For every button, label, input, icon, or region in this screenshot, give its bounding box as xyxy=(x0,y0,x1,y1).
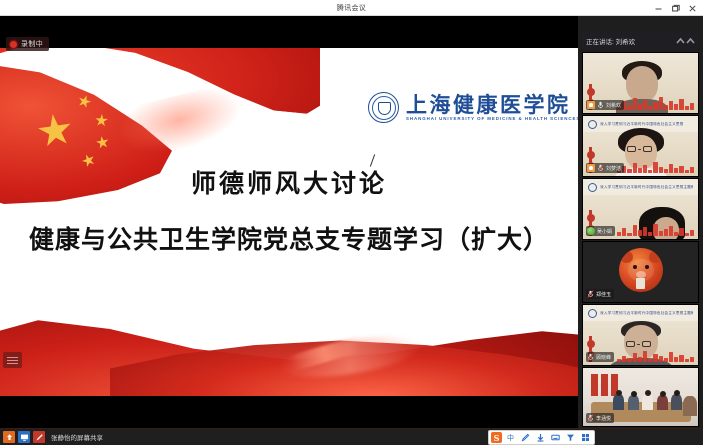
window-controls xyxy=(650,0,701,16)
participant-5-audio-wave xyxy=(617,348,694,362)
participant-2-badge: 刘梦洁 xyxy=(586,163,624,173)
sogou-logo-icon[interactable]: S xyxy=(491,432,502,443)
window-titlebar: 腾讯会议 xyxy=(0,0,703,16)
recording-indicator: 录制中 xyxy=(6,37,49,51)
active-speaker-label: 正在讲话: 刘希欢 xyxy=(586,36,635,46)
taskbar-share-entry[interactable]: 张静怡的屏幕共享 xyxy=(0,431,103,443)
participant-3-strip-text: 深入学习贯彻习近平新时代中国特色社会主义思想主题教育 xyxy=(600,185,693,190)
participant-1-name: 刘希欢 xyxy=(606,102,621,109)
university-name-en: SHANGHAI UNIVERSITY OF MEDICINE & HEALTH… xyxy=(406,116,578,121)
participant-3-audio-wave xyxy=(617,222,694,236)
participant-tile-5[interactable]: 深入学习贯彻习近平新时代中国特色社会主义思想主题教育 xyxy=(582,304,699,366)
taskbar-share-label: 张静怡的屏幕共享 xyxy=(51,432,103,442)
speaking-chip-icon xyxy=(587,227,595,235)
participant-6-name: 李涵悦 xyxy=(596,415,611,422)
slideshow-control-overlay[interactable] xyxy=(3,352,22,368)
active-speaker-banner: 正在讲话: 刘希欢 xyxy=(582,32,699,49)
participant-tile-2[interactable]: 深入学习贯彻习近平新时代中国特色社会主义思想 xyxy=(582,115,699,177)
slide-title-line-2: 健康与公共卫生学院党总支专题学习（扩大） xyxy=(0,220,578,256)
mic-muted-icon xyxy=(587,414,594,422)
participant-1-badge: 刘希欢 xyxy=(586,100,624,110)
participant-tile-4[interactable]: 郑佳玉 xyxy=(582,241,699,303)
ime-handwriting-icon[interactable] xyxy=(519,431,532,444)
annotate-pen-icon[interactable] xyxy=(33,431,45,443)
share-screen-icon[interactable] xyxy=(3,431,15,443)
red-silk-ribbon-graphic xyxy=(0,286,578,396)
strip-seal-icon xyxy=(588,183,597,192)
participant-2-name: 刘梦洁 xyxy=(606,165,621,172)
participant-5-shared-strip: 深入学习贯彻习近平新时代中国特色社会主义思想主题教育 xyxy=(583,305,698,321)
participant-2-audio-wave xyxy=(617,159,694,173)
rail-scroll-up-icon[interactable] xyxy=(676,37,695,45)
mic-on-icon xyxy=(597,101,604,109)
participant-3-name: 吴小娟 xyxy=(597,228,612,235)
monitor-icon[interactable] xyxy=(18,431,30,443)
participant-tile-1[interactable]: 刘希欢 xyxy=(582,52,699,114)
mic-muted-icon xyxy=(587,290,594,298)
mic-muted-icon xyxy=(597,164,604,172)
ime-keyboard-icon[interactable] xyxy=(549,431,562,444)
presentation-slide: 上海健康医学院 SHANGHAI UNIVERSITY OF MEDICINE … xyxy=(0,48,578,396)
mic-muted-icon xyxy=(587,353,594,361)
host-chip-icon xyxy=(587,164,595,172)
participant-4-badge: 郑佳玉 xyxy=(586,289,614,299)
participant-1-audio-wave xyxy=(617,96,694,110)
participant-3-shared-strip: 深入学习贯彻习近平新时代中国特色社会主义思想主题教育 xyxy=(583,179,698,195)
participant-tile-6[interactable]: 李涵悦 xyxy=(582,367,699,427)
participant-4-avatar xyxy=(619,248,663,292)
ime-language-toggle[interactable]: 中 xyxy=(504,431,517,444)
close-button[interactable] xyxy=(684,1,701,16)
window-title: 腾讯会议 xyxy=(337,3,366,13)
strip-seal-icon xyxy=(588,120,597,129)
ime-toolbox-icon[interactable] xyxy=(564,431,577,444)
shared-screen-stage[interactable]: 录制中 上海健康医学院 SHANGHAI UNIVERSITY OF MEDIC… xyxy=(0,16,578,428)
ime-download-icon[interactable] xyxy=(534,431,547,444)
university-logo: 上海健康医学院 SHANGHAI UNIVERSITY OF MEDICINE … xyxy=(368,92,578,123)
participant-2-strip-text: 深入学习贯彻习近平新时代中国特色社会主义思想 xyxy=(600,122,683,127)
sogou-ime-toolbar[interactable]: S 中 xyxy=(488,430,595,445)
participant-tile-3[interactable]: 深入学习贯彻习近平新时代中国特色社会主义思想主题教育 吴小娟 xyxy=(582,178,699,240)
strip-seal-icon xyxy=(588,309,597,318)
recording-label: 录制中 xyxy=(21,39,43,49)
slide-title-line-1: 师德师风大讨论 xyxy=(0,164,578,200)
participant-6-badge: 李涵悦 xyxy=(586,413,614,423)
minimize-button[interactable] xyxy=(650,1,667,16)
restore-button[interactable] xyxy=(667,1,684,16)
university-name-cn: 上海健康医学院 xyxy=(406,94,578,115)
participant-4-name: 郑佳玉 xyxy=(596,291,611,298)
speaker-chip-icon xyxy=(587,101,595,109)
participant-5-name: 顾晓峰 xyxy=(596,354,611,361)
tencent-meeting-window: 腾讯会议 录制中 xyxy=(0,0,703,445)
participant-5-strip-text: 深入学习贯彻习近平新时代中国特色社会主义思想主题教育 xyxy=(600,311,693,316)
university-crest-icon xyxy=(368,92,399,123)
recording-dot-icon xyxy=(10,41,17,48)
participant-video-rail: 正在讲话: 刘希欢 xyxy=(578,16,703,428)
participant-3-badge: 吴小娟 xyxy=(586,226,615,236)
windows-taskbar: 张静怡的屏幕共享 S 中 xyxy=(0,428,703,445)
ime-menu-icon[interactable] xyxy=(579,431,592,444)
participant-5-badge: 顾晓峰 xyxy=(586,352,614,362)
